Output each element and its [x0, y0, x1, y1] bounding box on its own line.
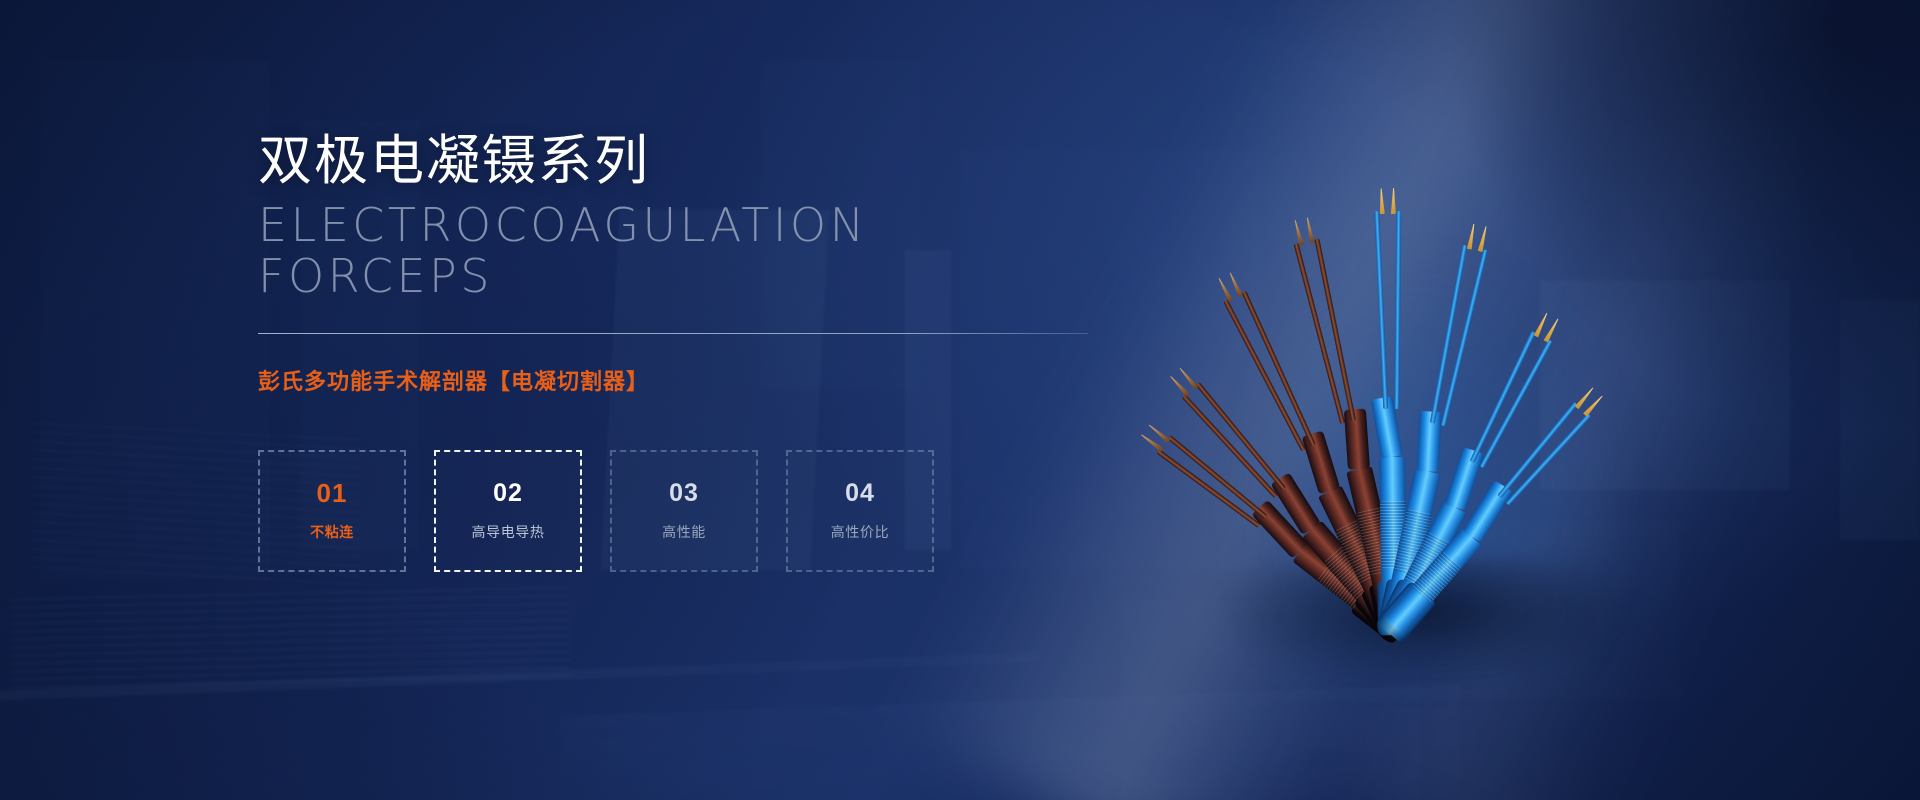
feature-number: 02 [493, 481, 523, 506]
feature-number: 01 [317, 480, 348, 506]
forceps-neck [1344, 408, 1370, 469]
page-title-en: ELECTROCOAGULATION FORCEPS [258, 200, 1098, 303]
divider-rule [258, 333, 1088, 334]
feature-list: 01不粘连02高导电导热03高性能04高性价比 [258, 450, 934, 572]
feature-label: 高性能 [662, 522, 706, 542]
feature-box-01[interactable]: 01不粘连 [258, 450, 406, 572]
feature-box-03[interactable]: 03高性能 [610, 450, 758, 572]
feature-label: 不粘连 [310, 522, 354, 542]
page-title-cn: 双极电凝镊系列 [258, 130, 1098, 194]
forceps-gold-tip-r [1391, 188, 1396, 214]
forceps-gold-tip-l [1379, 188, 1385, 214]
page-subtitle: 彭氏多功能手术解剖器【电凝切割器】 [258, 364, 1098, 396]
feature-number: 04 [845, 481, 875, 506]
feature-box-02[interactable]: 02高导电导热 [434, 450, 582, 572]
counter-surface [560, 684, 1460, 800]
forceps-product-image [1060, 40, 1760, 680]
feature-label: 高性价比 [831, 522, 889, 542]
feature-number: 03 [669, 481, 699, 506]
feature-label: 高导电导热 [472, 522, 545, 542]
headline-block: 双极电凝镊系列 ELECTROCOAGULATION FORCEPS 彭氏多功能… [258, 130, 1098, 396]
feature-box-04[interactable]: 04高性价比 [786, 450, 934, 572]
product-banner: 双极电凝镊系列 ELECTROCOAGULATION FORCEPS 彭氏多功能… [0, 0, 1920, 800]
